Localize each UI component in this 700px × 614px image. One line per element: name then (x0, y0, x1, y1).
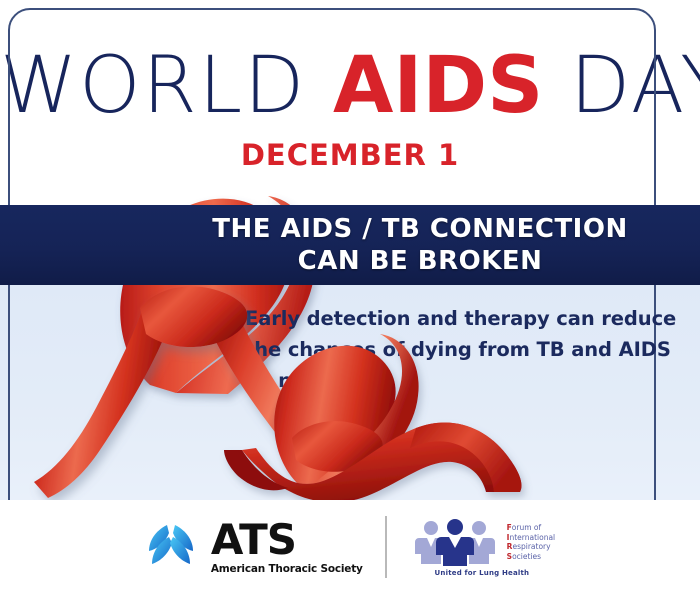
ats-lung-icon (145, 521, 203, 573)
world-aids-day-poster: THE AIDS / TB CONNECTION CAN BE BROKEN (0, 0, 700, 614)
headline-date: DECEMBER 1 (0, 138, 700, 172)
firs-people-icon (409, 517, 501, 567)
firs-tagline: United for Lung Health (435, 569, 530, 577)
firs-line-4: Societies (507, 552, 555, 562)
ats-logo: ATS American Thoracic Society (145, 519, 363, 576)
firs-rest-4: ocieties (512, 552, 541, 561)
banner-text-block: THE AIDS / TB CONNECTION CAN BE BROKEN (160, 213, 680, 277)
page-title: WORLD AIDS DAY (0, 46, 700, 125)
headline-day: DAY (570, 41, 700, 131)
ats-full-name: American Thoracic Society (211, 563, 363, 576)
poster-header: WORLD AIDS DAY DECEMBER 1 (0, 10, 700, 200)
firs-name-lines: Forum of International Respiratory Socie… (507, 523, 555, 561)
firs-logo: Forum of International Respiratory Socie… (409, 517, 555, 577)
badge-number: 40 (353, 385, 376, 405)
poster-footer: ATS American Thoracic Society (0, 500, 700, 614)
firs-line-2: International (507, 533, 555, 543)
firs-line-3: Respiratory (507, 542, 555, 552)
firs-rest-3: espiratory (512, 542, 550, 551)
ats-acronym: ATS (211, 519, 296, 561)
logo-row: ATS American Thoracic Society (0, 516, 700, 578)
firs-rest-2: nternational (509, 533, 555, 542)
body-line-3-text: by nearly (245, 369, 347, 392)
firs-line-1: Forum of (507, 523, 555, 533)
firs-rest-1: orum of (512, 523, 541, 532)
headline-world: WORLD (0, 41, 306, 131)
body-line-2: the chances of dying from TB and AIDS (245, 334, 645, 365)
headline-aids: AIDS (333, 41, 543, 131)
body-line-3: by nearly40% (245, 365, 645, 412)
body-message: Early detection and therapy can reduce t… (245, 303, 645, 412)
firs-logo-row: Forum of International Respiratory Socie… (409, 517, 555, 567)
status-badge: 40% (352, 374, 390, 412)
ats-text-block: ATS American Thoracic Society (211, 519, 363, 576)
navy-banner: THE AIDS / TB CONNECTION CAN BE BROKEN (0, 205, 700, 285)
banner-line-1: THE AIDS / TB CONNECTION (160, 213, 680, 245)
vertical-divider (385, 516, 387, 578)
body-line-1: Early detection and therapy can reduce (245, 303, 645, 334)
banner-line-2: CAN BE BROKEN (160, 245, 680, 277)
badge-percent-symbol: % (377, 386, 389, 400)
